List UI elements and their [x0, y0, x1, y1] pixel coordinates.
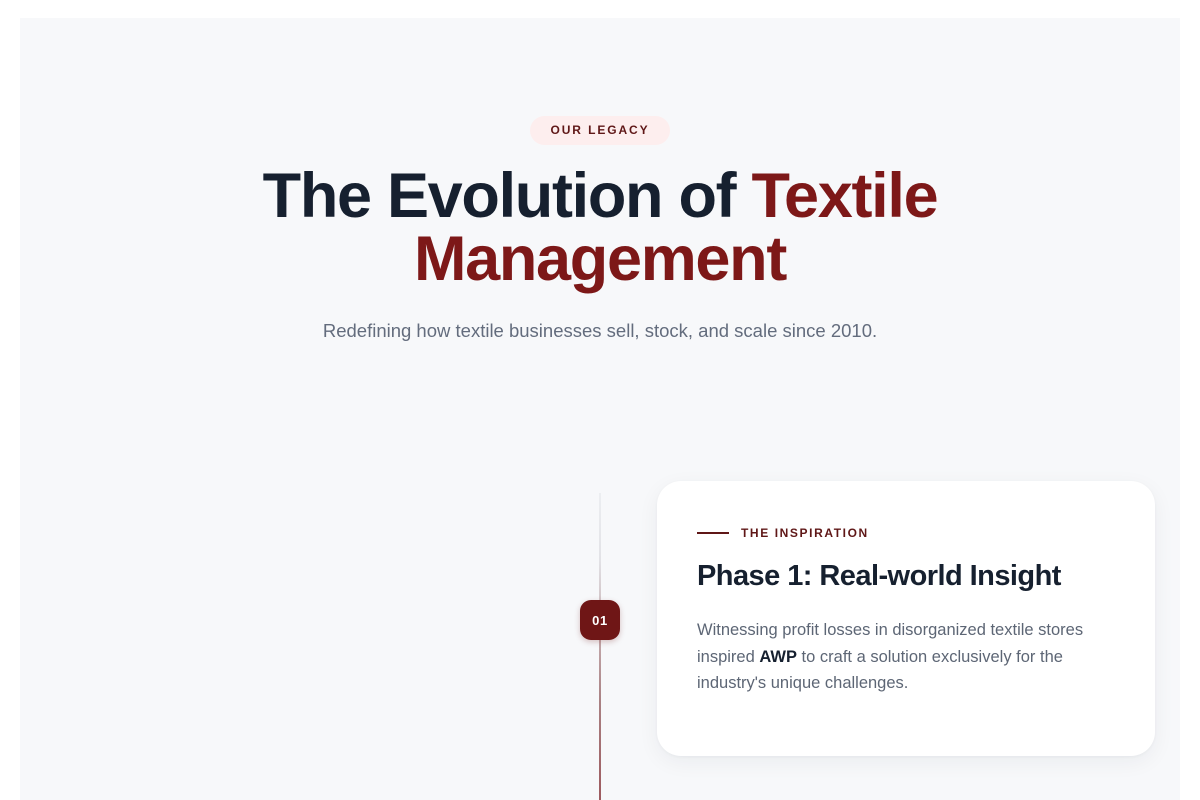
timeline-marker-01: 01 — [580, 600, 620, 640]
eyebrow-rule-icon — [697, 532, 729, 534]
hero-section: OUR LEGACY The Evolution of Textile Mana… — [20, 18, 1180, 345]
page-container: OUR LEGACY The Evolution of Textile Mana… — [20, 18, 1180, 800]
timeline-section: 01 THE INSPIRATION Phase 1: Real-world I… — [20, 448, 1180, 800]
card-title: Phase 1: Real-world Insight — [697, 559, 1115, 595]
hero-subtitle: Redefining how textile businesses sell, … — [150, 317, 1050, 345]
card-eyebrow-label: THE INSPIRATION — [741, 526, 869, 540]
page-title-lead: The Evolution of — [263, 161, 752, 231]
card-eyebrow: THE INSPIRATION — [697, 526, 1115, 540]
hero-badge: OUR LEGACY — [530, 116, 669, 145]
timeline-marker-label: 01 — [592, 613, 608, 628]
timeline-card-01: THE INSPIRATION Phase 1: Real-world Insi… — [657, 481, 1155, 756]
page-title: The Evolution of Textile Management — [210, 165, 990, 291]
timeline-axis-line — [599, 493, 601, 800]
card-body-brand: AWP — [759, 648, 797, 666]
card-body: Witnessing profit losses in disorganized… — [697, 617, 1115, 697]
